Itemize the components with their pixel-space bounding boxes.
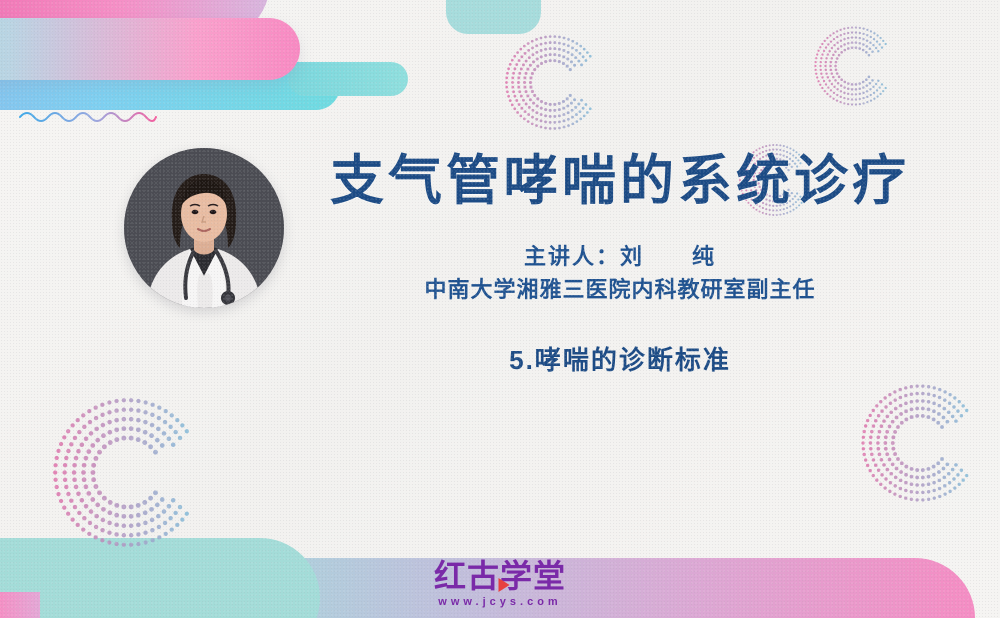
- speaker-name: 主讲人：刘 纯: [300, 240, 940, 273]
- speaker-affiliation: 中南大学湘雅三医院内科教研室副主任: [300, 273, 940, 306]
- dotted-ring-top-left: [500, 30, 605, 135]
- brand-url: www.jcys.com: [390, 596, 610, 608]
- dotted-ring-bottom-left: [45, 390, 210, 555]
- brand-logo[interactable]: 红古学堂 www.jcys.com: [390, 560, 610, 608]
- section-heading: 5.哮喘的诊断标准: [300, 340, 940, 377]
- bottom-left-pink-strip: [0, 592, 40, 618]
- small-teal-pill-shape: [288, 62, 408, 96]
- teal-pink-pill-shape: [0, 18, 300, 80]
- title-block: 支气管哮喘的系统诊疗 主讲人：刘 纯 中南大学湘雅三医院内科教研室副主任 5.哮…: [300, 150, 940, 377]
- teal-block-shape: [446, 0, 541, 34]
- dotted-ring-top-right: [810, 22, 898, 110]
- lecturer-avatar: [124, 148, 284, 308]
- slide-canvas: 支气管哮喘的系统诊疗 主讲人：刘 纯 中南大学湘雅三医院内科教研室副主任 5.哮…: [0, 0, 1000, 618]
- dotted-ring-bottom-right: [855, 378, 985, 508]
- wavy-line-icon: [18, 108, 158, 124]
- play-triangle-icon: [499, 578, 510, 592]
- page-title: 支气管哮喘的系统诊疗: [300, 150, 940, 214]
